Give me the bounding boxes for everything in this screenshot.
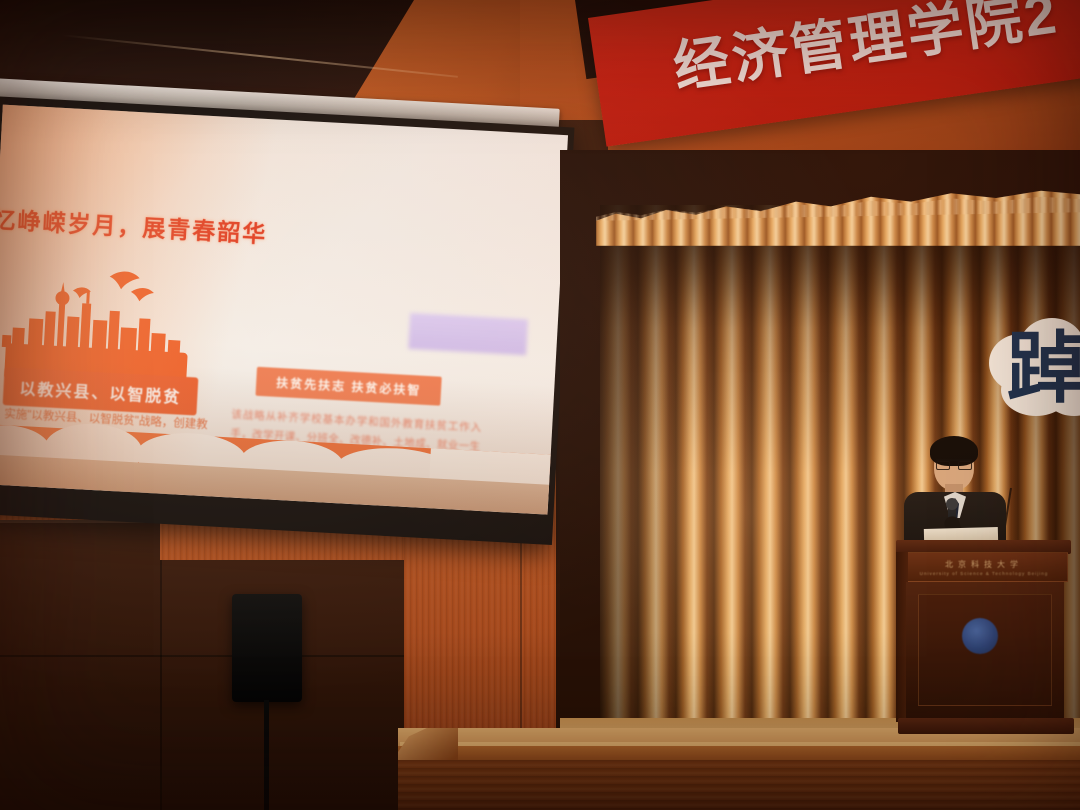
glasses-icon — [936, 459, 972, 468]
podium-plaque-cn: 北京科技大学 — [945, 559, 1023, 570]
wall-character-glyph: 踔 — [1007, 330, 1080, 408]
projection-screen[interactable]: 忆峥嵘岁月，展青春韶华 — [0, 96, 574, 545]
stage-fascia — [398, 760, 1080, 810]
microphone-head — [946, 498, 958, 510]
pa-speaker-box — [232, 594, 302, 702]
slide-surface: 忆峥嵘岁月，展青春韶华 — [0, 105, 568, 515]
podium-base — [898, 718, 1074, 734]
wood-seam-3 — [0, 655, 405, 657]
university-emblem — [962, 618, 998, 654]
auditorium-photo: 忆峥嵘岁月，展青春韶华 — [0, 0, 1080, 810]
wall-character-sign: 踔 — [985, 312, 1080, 432]
slide-title: 忆峥嵘岁月，展青春韶华 — [0, 200, 268, 249]
pa-speaker-stand — [264, 700, 269, 810]
event-banner-text: 经济管理学院2 — [668, 0, 1064, 104]
slide-section-pill: 扶贫先扶志 扶贫必扶智 — [255, 367, 442, 406]
wood-panel-dark-a — [0, 520, 160, 810]
slide-violet-overlay — [408, 313, 528, 355]
podium-plaque: 北京科技大学 University of Science & Technolog… — [900, 552, 1068, 582]
wood-seam-1 — [160, 560, 162, 810]
podium-plaque-en: University of Science & Technology Beiji… — [920, 571, 1049, 576]
